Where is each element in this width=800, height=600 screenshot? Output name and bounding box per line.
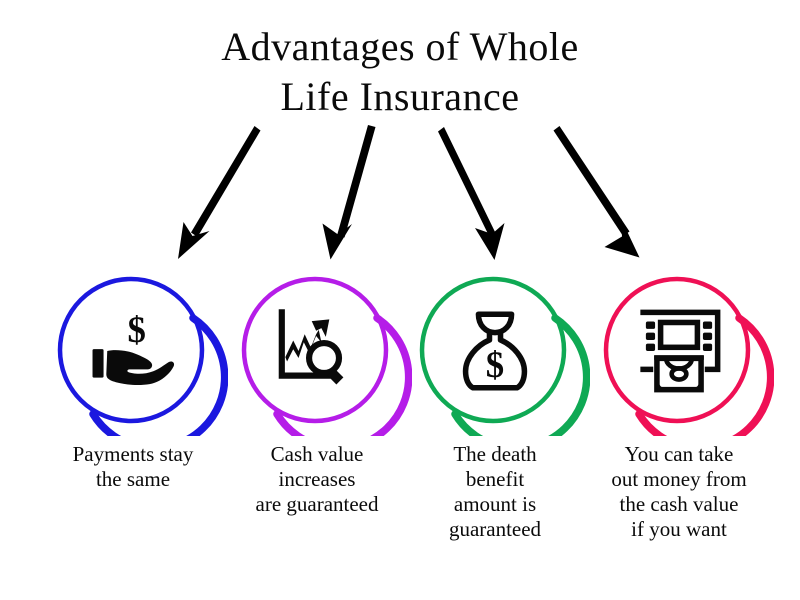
advantage-item-1: $ Payments stay the same: [38, 266, 228, 492]
advantage-item-2: Cash value increases are guaranteed: [222, 266, 412, 517]
arrow-to-item-2: [323, 125, 376, 260]
hand-holding-dollar-icon: $: [87, 305, 179, 397]
advantage-caption-1: Payments stay the same: [38, 442, 228, 492]
arrow-to-item-3: [438, 127, 505, 260]
advantage-item-4: You can take out money from the cash val…: [584, 266, 774, 542]
advantage-caption-3: The death benefit amount is guaranteed: [400, 442, 590, 542]
icon-container-1: $: [38, 266, 228, 436]
page-title: Advantages of Whole Life Insurance: [0, 22, 800, 122]
svg-text:$: $: [127, 309, 145, 350]
icon-container-4: [584, 266, 774, 436]
advantage-caption-4: You can take out money from the cash val…: [584, 442, 774, 542]
icon-container-3: $: [400, 266, 590, 436]
icon-container-2: [222, 266, 412, 436]
advantage-caption-2: Cash value increases are guaranteed: [222, 442, 412, 517]
arrow-to-item-4: [554, 126, 640, 258]
advantage-item-3: $ The death benefit amount is guaranteed: [400, 266, 590, 542]
growth-chart-magnifier-icon: [273, 307, 361, 395]
svg-text:$: $: [486, 344, 504, 385]
money-bag-dollar-icon: $: [449, 305, 541, 397]
infographic-canvas: Advantages of Whole Life Insurance: [0, 0, 800, 600]
arrow-to-item-1: [178, 126, 261, 259]
atm-cash-withdrawal-icon: [633, 305, 725, 397]
